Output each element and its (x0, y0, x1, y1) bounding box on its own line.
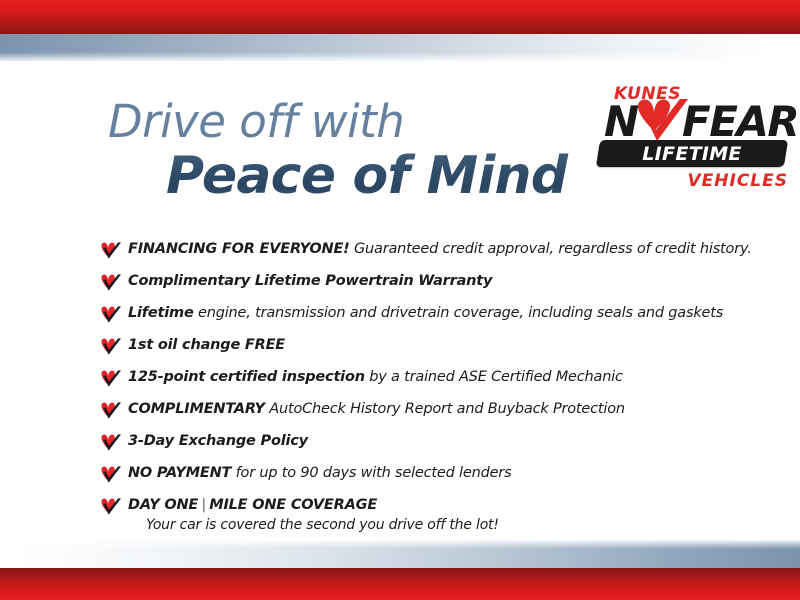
list-item-text: DAY ONE|MILE ONE COVERAGEYour car is cov… (128, 497, 760, 535)
list-item-text: FINANCING FOR EVERYONE! Guaranteed credi… (128, 241, 752, 257)
headline-line-2: Peace of Mind (166, 148, 578, 204)
list-item: 3-Day Exchange Policy (100, 432, 760, 454)
heart-check-icon (100, 273, 122, 291)
list-item-rest: engine, transmission and drivetrain cove… (194, 305, 724, 321)
list-item-text: Complimentary Lifetime Powertrain Warran… (128, 273, 492, 289)
list-item-bold: 1st oil change FREE (128, 337, 285, 353)
logo-vehicles-text: VEHICLES (688, 171, 789, 191)
list-item-bold-2: MILE ONE COVERAGE (209, 497, 377, 513)
list-item: 1st oil change FREE (100, 336, 760, 358)
top-gray-band (0, 34, 800, 61)
list-item-text: 3-Day Exchange Policy (128, 433, 308, 449)
heart-check-icon (100, 305, 122, 323)
list-item: NO PAYMENT for up to 90 days with select… (100, 464, 760, 486)
list-item-text: COMPLIMENTARY AutoCheck History Report a… (128, 401, 625, 417)
list-item: 125-point certified inspection by a trai… (100, 368, 760, 390)
logo-lifetime-certified-text: LIFETIME CERTIFIED (598, 142, 786, 166)
list-item-bold: 3-Day Exchange Policy (128, 433, 308, 449)
list-item-bold: COMPLIMENTARY (128, 401, 265, 417)
list-item-bold: Complimentary Lifetime Powertrain Warran… (128, 273, 492, 289)
heart-check-icon (100, 401, 122, 419)
list-item-bold: FINANCING FOR EVERYONE! (128, 241, 350, 257)
list-item-rest: by a trained ASE Certified Mechanic (365, 369, 623, 385)
list-item-rest: Guaranteed credit approval, regardless o… (350, 241, 752, 257)
heart-check-icon (100, 465, 122, 483)
list-item-bold: DAY ONE (128, 497, 198, 513)
list-item: Complimentary Lifetime Powertrain Warran… (100, 272, 760, 294)
list-item: DAY ONE|MILE ONE COVERAGEYour car is cov… (100, 496, 760, 535)
heart-check-icon (100, 241, 122, 259)
heart-check-icon (100, 337, 122, 355)
promo-poster: Drive off with Peace of Mind KUNES N FEA… (0, 0, 800, 600)
list-item-rest: for up to 90 days with selected lenders (231, 465, 511, 481)
list-item-bold: 125-point certified inspection (128, 369, 365, 385)
list-item-subtext: Your car is covered the second you drive… (146, 516, 760, 535)
list-item-bold: NO PAYMENT (128, 465, 231, 481)
kunes-no-fear-logo: KUNES N FEAR LIFETIME CERTIFIED VEHICLES (598, 84, 790, 194)
list-item-text: Lifetime engine, transmission and drivet… (128, 305, 723, 321)
heart-check-icon (100, 497, 122, 515)
headline: Drive off with Peace of Mind (108, 98, 578, 204)
headline-line-1: Drive off with (108, 98, 578, 146)
list-item-rest: AutoCheck History Report and Buyback Pro… (265, 401, 625, 417)
list-item: FINANCING FOR EVERYONE! Guaranteed credi… (100, 240, 760, 262)
heart-check-icon (100, 369, 122, 387)
bottom-gray-band (0, 540, 800, 568)
top-red-band (0, 0, 800, 34)
list-item-bold: Lifetime (128, 305, 194, 321)
logo-fear-text: FEAR (682, 101, 798, 143)
list-item-text: 1st oil change FREE (128, 337, 285, 353)
list-item: Lifetime engine, transmission and drivet… (100, 304, 760, 326)
benefits-list: FINANCING FOR EVERYONE! Guaranteed credi… (100, 240, 760, 545)
list-item-text: 125-point certified inspection by a trai… (128, 369, 623, 385)
list-item-text: NO PAYMENT for up to 90 days with select… (128, 465, 511, 481)
bottom-red-band (0, 568, 800, 600)
logo-no-fear-wordmark: N FEAR (604, 101, 790, 145)
list-item: COMPLIMENTARY AutoCheck History Report a… (100, 400, 760, 422)
heart-check-icon (100, 433, 122, 451)
list-item-separator: | (198, 497, 209, 513)
